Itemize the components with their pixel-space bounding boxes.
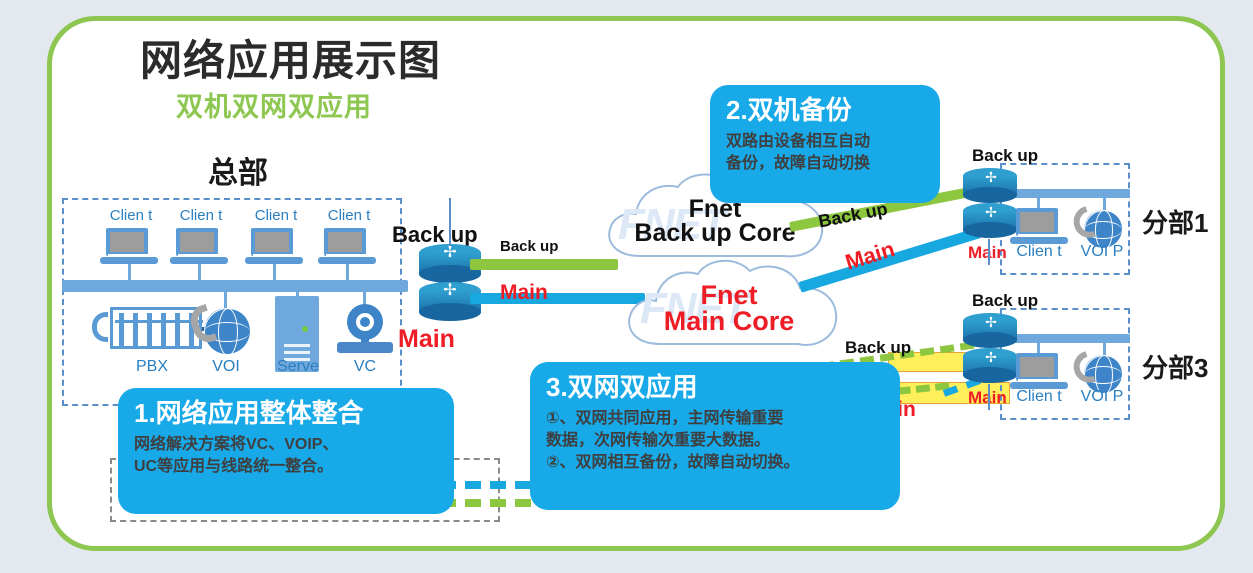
branch1-voip-label: VOI P — [1074, 243, 1130, 260]
branch3-bus-line — [1000, 334, 1130, 343]
hq-client-2[interactable]: Clien t — [170, 228, 232, 270]
callout-2[interactable]: 2.双机备份 双路由设备相互自动 备份，故障自动切换 — [710, 85, 940, 203]
headquarters-bus-line — [62, 280, 408, 292]
branch1-router-main[interactable]: ✢ — [963, 203, 1017, 239]
branch3-router-main[interactable]: ✢ — [963, 348, 1017, 384]
router-arrows-icon: ✢ — [434, 284, 466, 298]
hq-client-4[interactable]: Clien t — [318, 228, 380, 270]
callout-3[interactable]: 3.双网双应用 ①、双网共同应用，主网传输重要 数据，次网传输次重要大数据。 ②… — [530, 362, 900, 510]
cloud-main-core-line2: Main Core — [618, 308, 840, 334]
callout-1-body-line2: UC等应用与线路统一整合。 — [134, 456, 438, 478]
branch3-router-downlink — [988, 384, 990, 410]
hq-main-link-label: Main — [500, 281, 548, 305]
branch3-client-label: Clien t — [1008, 388, 1070, 405]
branch3-backup-link-label: Back up — [845, 338, 911, 358]
hq-backup-link-label: Back up — [500, 238, 558, 255]
hq-client-4-stem — [346, 264, 349, 282]
cloud-main-core[interactable]: FNET Fnet Main Core — [618, 256, 840, 360]
vc-camera-icon[interactable] — [337, 304, 393, 358]
router-arrows-icon: ✢ — [975, 315, 1007, 329]
callout-2-body-line1: 双路由设备相互自动 — [726, 131, 924, 153]
branch3-router-backup-label: Back up — [972, 291, 1038, 311]
branch3-router-backup[interactable]: ✢ — [963, 313, 1017, 349]
callout-2-body-line2: 备份，故障自动切换 — [726, 153, 924, 175]
branch3-name: 分部3 — [1142, 348, 1208, 385]
branch1-name: 分部1 — [1142, 203, 1208, 240]
voip-globe-icon[interactable] — [196, 306, 250, 360]
hq-client-2-label: Clien t — [168, 208, 234, 223]
branch1-client-label: Clien t — [1008, 243, 1070, 260]
branch1-router-backup[interactable]: ✢ — [963, 168, 1017, 204]
router-arrows-icon: ✢ — [975, 170, 1007, 184]
hq-client-4-label: Clien t — [316, 208, 382, 223]
hq-client-3-stem — [273, 264, 276, 282]
hq-client-1-label: Clien t — [98, 208, 164, 223]
router-arrows-icon: ✢ — [975, 350, 1007, 364]
page-subtitle: 双机双网双应用 — [176, 85, 372, 124]
callout-1-body-line1: 网络解决方案将VC、VOIP、 — [134, 434, 438, 456]
callout-3-title: 3.双网双应用 — [546, 372, 884, 402]
branch1-router-backup-label: Back up — [972, 146, 1038, 166]
hq-router-uplink — [449, 198, 451, 246]
callout-3-body-line2: 数据，次网传输次重要大数据。 — [546, 430, 884, 452]
branch1-router-downlink — [988, 239, 990, 265]
branch3-voip-label: VOI P — [1074, 388, 1130, 405]
hq-client-3[interactable]: Clien t — [245, 228, 307, 270]
callout-3-body-line3: ②、双网相互备份，故障自动切换。 — [546, 452, 884, 474]
pbx-label: PBX — [112, 358, 192, 375]
callout-1[interactable]: 1.网络应用整体整合 网络解决方案将VC、VOIP、 UC等应用与线路统一整合。 — [118, 388, 454, 514]
branch1-bus-line — [1000, 189, 1130, 198]
callout-2-title: 2.双机备份 — [726, 95, 924, 125]
hq-router-main-label: Main — [398, 325, 455, 354]
voip-label: VOI — [186, 358, 266, 375]
hq-client-1-stem — [128, 264, 131, 282]
vc-label: VC — [325, 358, 405, 375]
router-arrows-icon: ✢ — [975, 205, 1007, 219]
hq-client-2-stem — [198, 264, 201, 282]
diagram-canvas: 网络应用展示图 双机双网双应用 总部 Clien t Clien t Clien… — [0, 0, 1253, 573]
router-arrows-icon: ✢ — [434, 246, 466, 260]
headquarters-title: 总部 — [208, 148, 268, 192]
page-title: 网络应用展示图 — [140, 27, 441, 88]
callout-3-body-line1: ①、双网共同应用，主网传输重要 — [546, 408, 884, 430]
hq-client-1[interactable]: Clien t — [100, 228, 162, 270]
hq-client-3-label: Clien t — [243, 208, 309, 223]
callout-1-title: 1.网络应用整体整合 — [134, 398, 438, 428]
